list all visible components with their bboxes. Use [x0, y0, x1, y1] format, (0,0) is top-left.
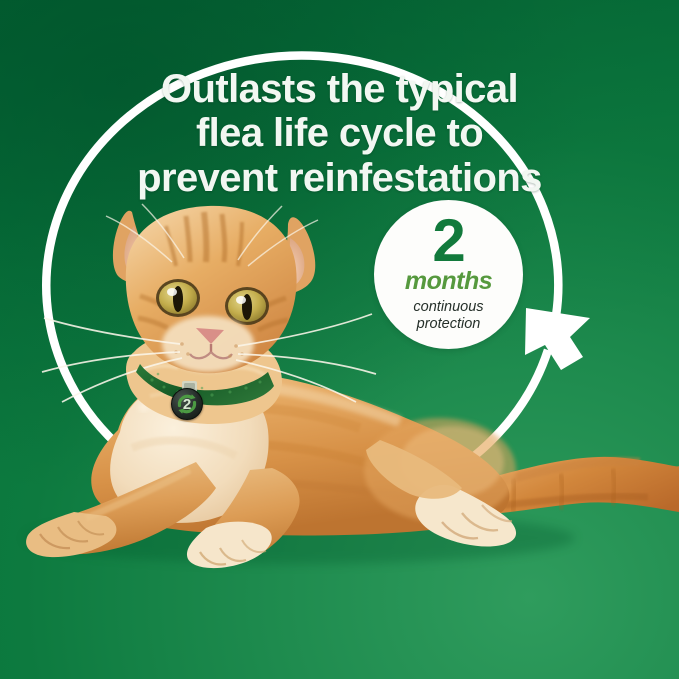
product-banner: 2 Outlasts the typical flea life cycle t…	[0, 0, 679, 679]
badge-subtext-line-2: protection	[413, 316, 483, 332]
arrow-loop-graphic	[0, 0, 679, 679]
duration-badge: 2 months continuous protection	[374, 200, 523, 349]
loop-arrow-head-icon	[525, 308, 590, 370]
badge-number: 2	[432, 213, 464, 268]
collar-tag-number: 2	[183, 397, 191, 412]
collar-tag: 2	[171, 388, 203, 420]
badge-subtext: continuous protection	[413, 299, 483, 331]
badge-subtext-line-1: continuous	[413, 299, 483, 315]
badge-unit: months	[405, 269, 492, 294]
